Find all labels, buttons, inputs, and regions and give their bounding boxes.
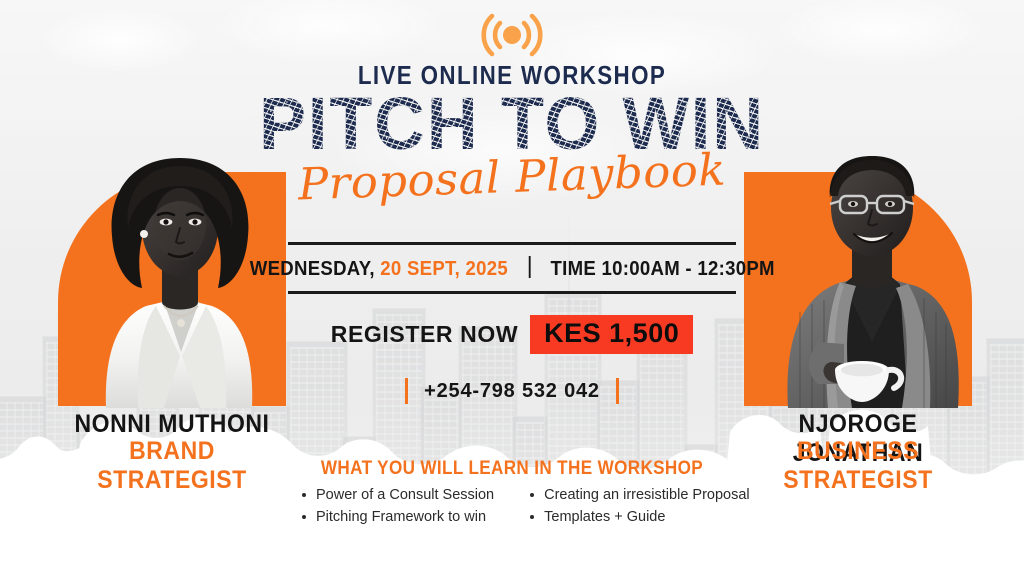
speaker-card-left bbox=[58, 172, 286, 406]
learn-column-left: Power of a Consult Session Pitching Fram… bbox=[300, 484, 494, 528]
schedule-date: 20 SEPT, 2025 bbox=[380, 258, 508, 280]
schedule-separator bbox=[528, 256, 530, 278]
phone-number[interactable]: +254-798 532 042 bbox=[408, 380, 616, 403]
learn-columns: Power of a Consult Session Pitching Fram… bbox=[300, 484, 730, 528]
schedule-time: TIME 10:00AM - 12:30PM bbox=[550, 258, 774, 280]
schedule-day: WEDNESDAY, bbox=[249, 258, 374, 280]
list-item: Templates + Guide bbox=[528, 506, 750, 528]
list-item: Pitching Framework to win bbox=[300, 506, 494, 528]
phone-accent-right bbox=[616, 378, 619, 404]
list-item: Creating an irresistible Proposal bbox=[528, 484, 750, 506]
price-badge[interactable]: KES 1,500 bbox=[530, 315, 693, 354]
speaker-right-photo bbox=[740, 112, 986, 408]
register-label: REGISTER NOW bbox=[331, 321, 518, 348]
register-row: REGISTER NOW KES 1,500 bbox=[288, 315, 736, 354]
list-item: Power of a Consult Session bbox=[300, 484, 494, 506]
speaker-left-name: NONNI MUTHONI bbox=[56, 410, 288, 439]
phone-row[interactable]: +254-798 532 042 bbox=[288, 378, 736, 404]
speaker-card-right bbox=[744, 172, 972, 406]
broadcast-signal-icon bbox=[480, 10, 544, 60]
learn-section-title: WHAT YOU WILL LEARN IN THE WORKSHOP bbox=[51, 458, 973, 480]
workshop-poster: LIVE ONLINE WORKSHOP PITCH TO WIN PITCH … bbox=[0, 0, 1024, 576]
learn-column-right: Creating an irresistible Proposal Templa… bbox=[528, 484, 750, 528]
schedule-bar: WEDNESDAY, 20 SEPT, 2025 TIME 10:00AM - … bbox=[288, 242, 736, 294]
